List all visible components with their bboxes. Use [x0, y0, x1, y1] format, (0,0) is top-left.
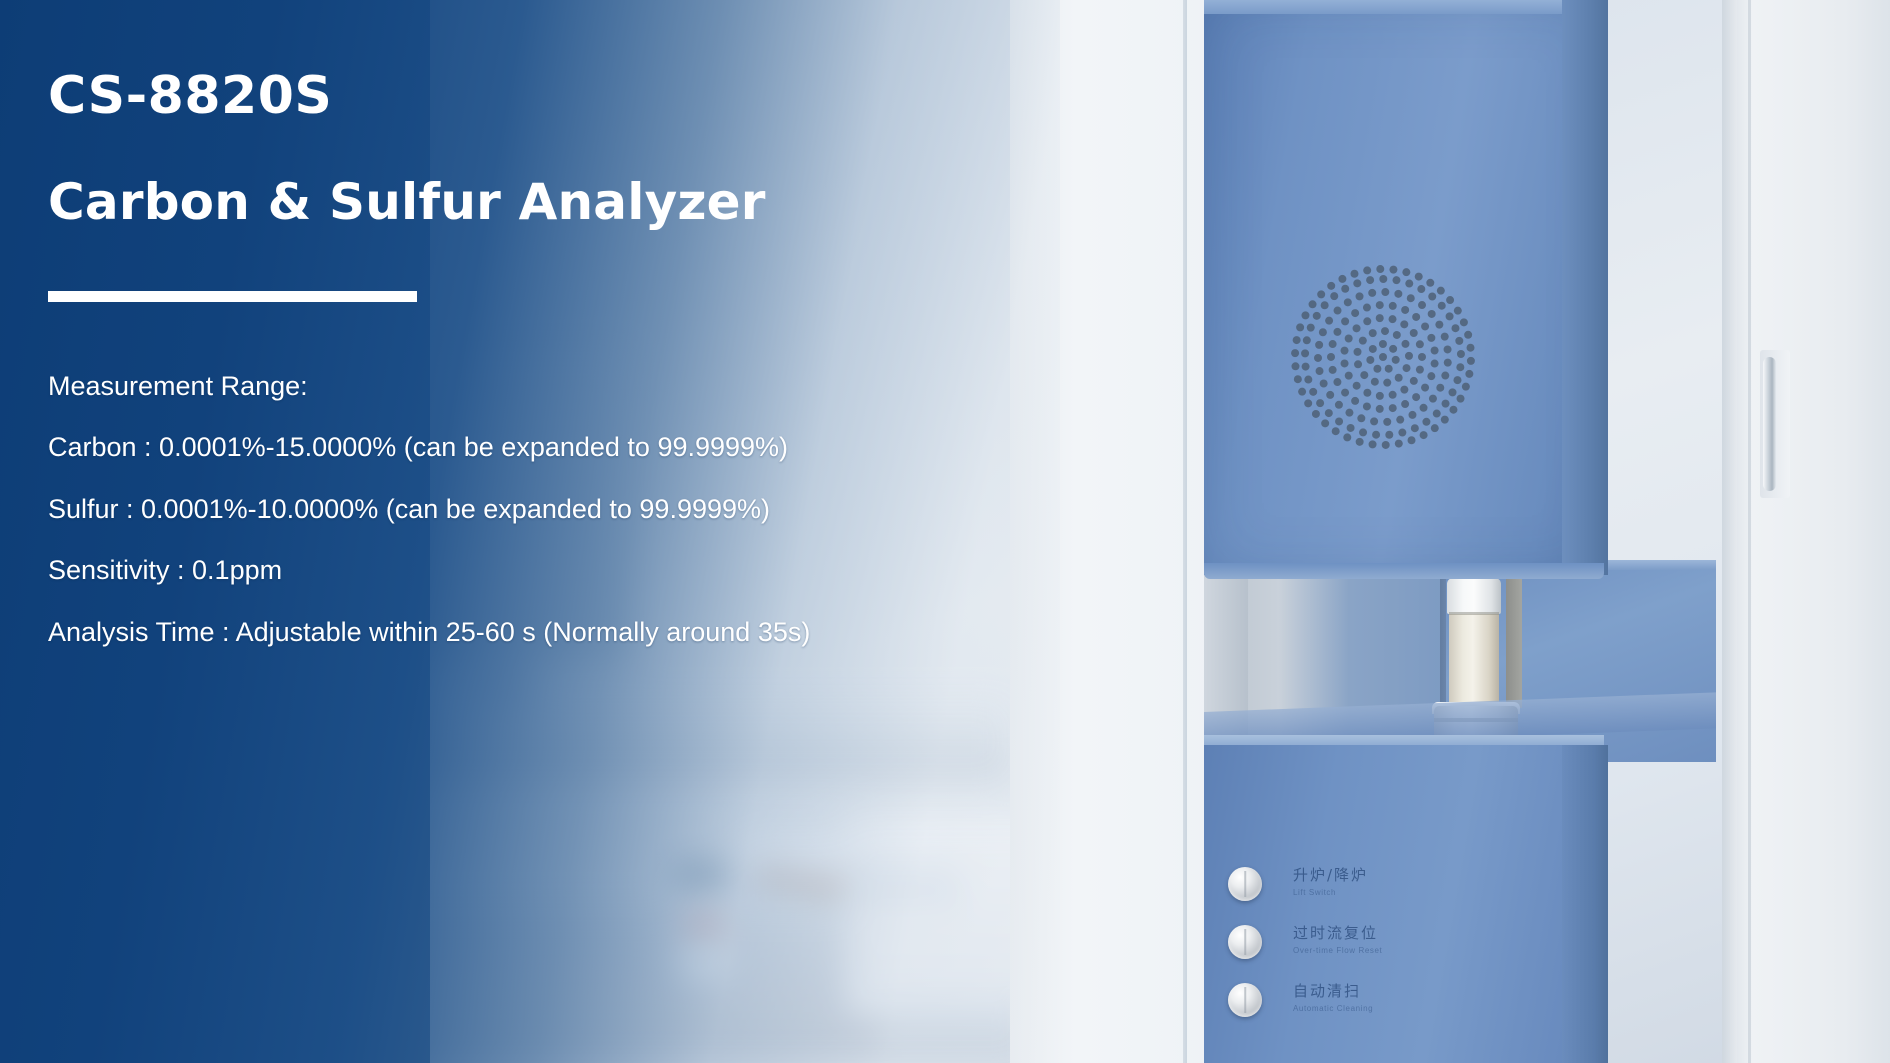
- control-knob-automatic-cleaning[interactable]: [1228, 983, 1262, 1017]
- spec-line: Measurement Range:: [48, 368, 998, 404]
- lab-cabinet-right: [1737, 0, 1890, 1063]
- control-label-en: Automatic Cleaning: [1293, 1004, 1373, 1013]
- analyzer-upper-housing-right-face: [1562, 0, 1608, 575]
- spec-line: Sulfur : 0.0001%-10.0000% (can be expand…: [48, 491, 998, 527]
- ventilation-grille-icon: [1288, 262, 1478, 452]
- lab-cabinet-middle-edge: [1183, 0, 1187, 1063]
- analyzer-upper-housing-top: [1204, 0, 1604, 14]
- spec-line: Sensitivity : 0.1ppm: [48, 552, 998, 588]
- cabinet-door-handle-icon: [1763, 357, 1776, 491]
- control-label-automatic-cleaning: 自动清扫 Automatic Cleaning: [1293, 980, 1373, 1013]
- control-label-cn: 过时流复位: [1293, 922, 1382, 943]
- title-accent-rule: [48, 291, 417, 302]
- lab-cabinet-right-seam: [1748, 0, 1751, 1063]
- control-label-cn: 自动清扫: [1293, 980, 1373, 1001]
- analyzer-upper-housing-bottom: [1204, 563, 1604, 579]
- page-title: Carbon & Sulfur Analyzer: [48, 175, 766, 230]
- control-label-lift-switch: 升炉/降炉 Lift Switch: [1293, 864, 1368, 897]
- product-banner: 升炉/降炉 Lift Switch 过时流复位 Over-time Flow R…: [0, 0, 1890, 1063]
- banner-content: CS-8820S Carbon & Sulfur Analyzer Measur…: [48, 0, 1008, 1063]
- specification-list: Measurement Range:Carbon : 0.0001%-15.00…: [48, 368, 998, 650]
- control-label-cn: 升炉/降炉: [1293, 864, 1368, 885]
- furnace-tube-cap: [1447, 578, 1501, 614]
- furnace-rear-slot: [1506, 578, 1522, 708]
- control-knob-lift-switch[interactable]: [1228, 867, 1262, 901]
- lab-cabinet-gap: [1722, 0, 1738, 1063]
- furnace-tube-cap-seam: [1449, 612, 1499, 615]
- analyzer-base-right-face: [1562, 745, 1608, 1063]
- spec-line: Carbon : 0.0001%-15.0000% (can be expand…: [48, 429, 998, 465]
- control-label-en: Lift Switch: [1293, 888, 1368, 897]
- control-knob-overtime-flow-reset[interactable]: [1228, 925, 1262, 959]
- control-label-overtime-flow-reset: 过时流复位 Over-time Flow Reset: [1293, 922, 1382, 955]
- control-label-en: Over-time Flow Reset: [1293, 946, 1382, 955]
- product-model: CS-8820S: [48, 70, 332, 122]
- analyzer-base-housing: [1204, 745, 1604, 1063]
- spec-line: Analysis Time : Adjustable within 25-60 …: [48, 614, 998, 650]
